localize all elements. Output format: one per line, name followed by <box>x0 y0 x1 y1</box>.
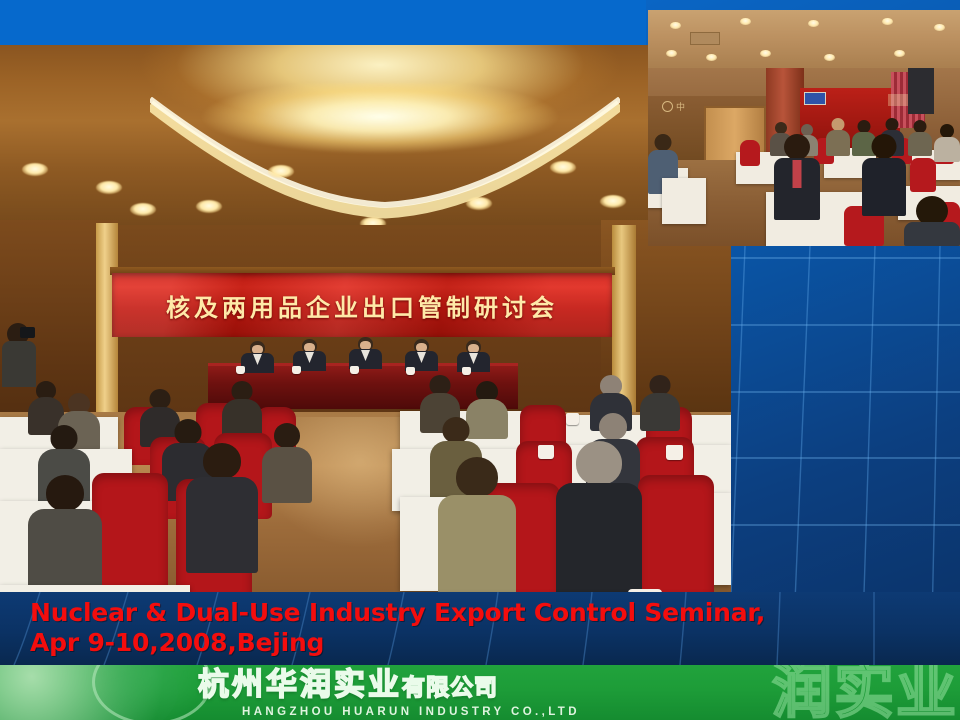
cup <box>666 445 683 460</box>
inset-wall-logo: 中 <box>662 98 722 114</box>
attendee <box>556 441 642 592</box>
downlight <box>96 181 122 194</box>
cup <box>462 367 471 375</box>
inset-screen <box>804 92 826 105</box>
inset-wall-logo-text: 中 <box>676 100 685 113</box>
panelist <box>240 341 274 375</box>
cup <box>538 445 554 459</box>
delegates-inset-photo: 中 <box>648 10 960 246</box>
inset-person <box>934 124 960 162</box>
company-name-cn-small: 有限公司 <box>402 675 498 701</box>
inset-person-foreground <box>774 134 820 220</box>
inset-downlight <box>934 24 945 31</box>
inset-table <box>662 178 706 224</box>
downlight <box>466 197 492 210</box>
audience-table <box>0 585 190 592</box>
inset-vent <box>690 32 720 45</box>
company-name-en: HANGZHOU HUARUN INDUSTRY CO.,LTD <box>198 706 580 718</box>
cup <box>406 367 415 375</box>
footer-globe-ring <box>92 665 212 720</box>
main-conference-photo: 核及两用品企业出口管制研讨会 <box>0 45 731 592</box>
attendee <box>640 375 680 431</box>
downlight <box>196 200 222 213</box>
inset-downlight <box>894 50 905 57</box>
red-banner: 核及两用品企业出口管制研讨会 <box>112 273 612 337</box>
downlight <box>550 161 576 174</box>
title-band: Nuclear & Dual-Use Industry Export Contr… <box>0 592 960 665</box>
inset-downlight <box>824 54 835 61</box>
cup <box>350 366 359 374</box>
inset-person-foreground <box>862 134 906 216</box>
inset-downlight <box>706 54 717 61</box>
inset-downlight <box>666 50 677 57</box>
inset-person <box>908 120 932 156</box>
seminar-title: Nuclear & Dual-Use Industry Export Contr… <box>0 592 960 658</box>
cup <box>566 413 579 425</box>
downlight <box>130 203 156 216</box>
inset-downlight <box>760 50 771 57</box>
cup <box>292 366 301 374</box>
photographer <box>2 323 36 387</box>
downlight <box>22 163 48 176</box>
footer-watermark: 润实业 <box>772 665 958 720</box>
inset-chair <box>740 140 760 166</box>
cup <box>236 366 245 374</box>
attendee <box>186 443 258 573</box>
inset-speaker <box>908 68 934 114</box>
attendee <box>262 423 312 503</box>
inset-person-foreground <box>904 196 960 246</box>
attendee <box>222 381 262 437</box>
company-name-cn: 杭州华润实业有限公司 <box>198 669 580 705</box>
inset-downlight <box>808 20 819 27</box>
company-logo: 杭州华润实业有限公司 HANGZHOU HUARUN INDUSTRY CO.,… <box>198 669 580 718</box>
logo-ring-icon <box>662 101 673 112</box>
banner-text: 核及两用品企业出口管制研讨会 <box>166 288 558 323</box>
company-name-cn-large: 杭州华润实业 <box>198 667 402 703</box>
attendee <box>438 457 516 592</box>
inset-downlight <box>740 18 751 25</box>
top-blue-strip <box>0 0 646 46</box>
downlight <box>268 165 294 178</box>
chair <box>638 475 714 592</box>
chair <box>92 473 168 592</box>
inset-chair <box>910 158 936 192</box>
slide-canvas: 核及两用品企业出口管制研讨会 <box>0 0 960 720</box>
attendee <box>28 475 102 592</box>
company-footer: 润实业 杭州华润实业有限公司 HANGZHOU HUARUN INDUSTRY … <box>0 665 960 720</box>
inset-downlight <box>670 22 681 29</box>
inset-downlight <box>882 18 893 25</box>
downlight <box>600 195 626 208</box>
inset-person <box>826 118 850 156</box>
